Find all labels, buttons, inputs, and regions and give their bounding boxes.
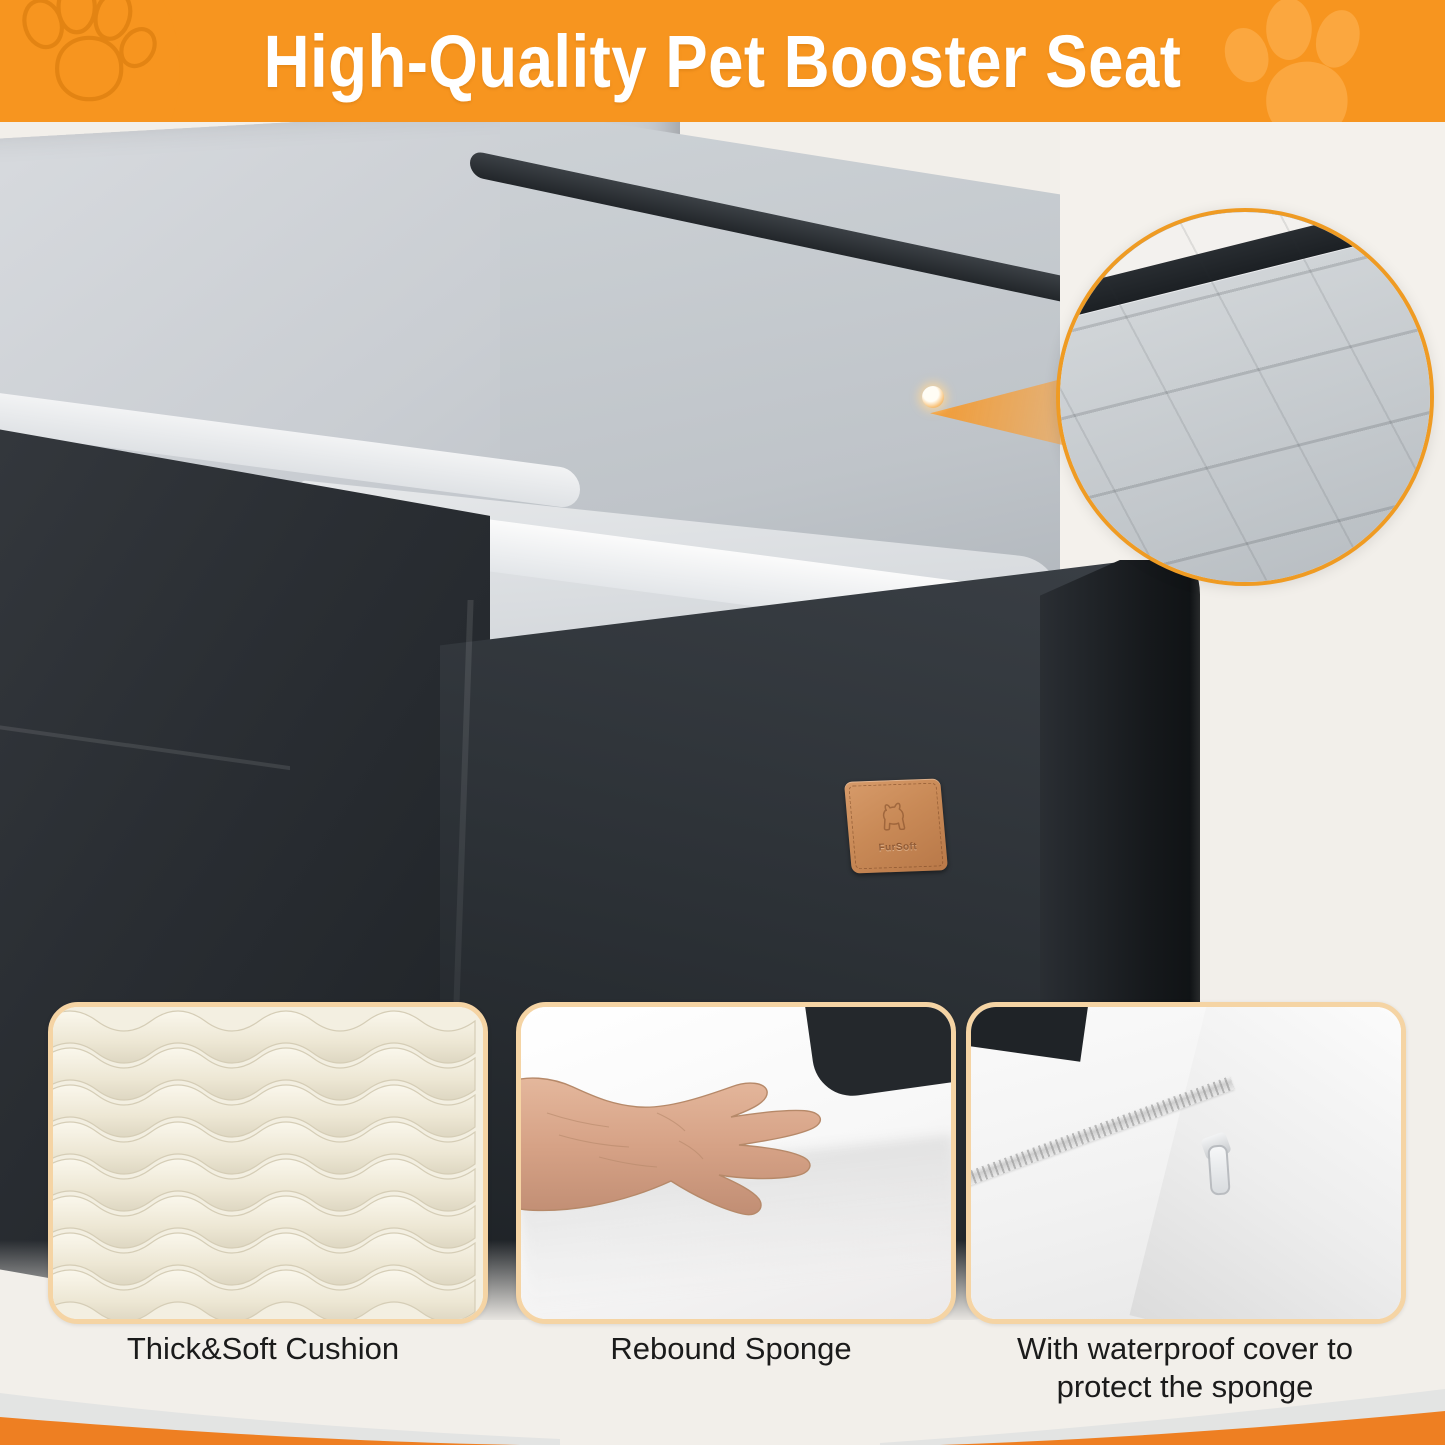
magnifier-origin-dot (922, 386, 944, 408)
header-banner: High-Quality Pet Booster Seat (0, 0, 1445, 122)
caption-waterproof-line-2: protect the sponge (950, 1368, 1420, 1406)
caption-waterproof-cover: With waterproof cover to protect the spo… (950, 1330, 1420, 1406)
feature-thumbnail-waterproof-cover (966, 1002, 1406, 1324)
caption-waterproof-line-1: With waterproof cover to (950, 1330, 1420, 1368)
feature-thumbnail-sponge (516, 1002, 956, 1324)
feature-thumbnail-row (0, 1002, 1445, 1324)
egg-crate-waves (53, 1007, 483, 1319)
foam-texture-image (53, 1007, 483, 1319)
caption-thick-soft-cushion: Thick&Soft Cushion (48, 1330, 478, 1368)
page-title: High-Quality Pet Booster Seat (101, 14, 1344, 110)
product-infographic: FurSoft (0, 0, 1445, 1445)
feature-caption-row: Thick&Soft Cushion Rebound Sponge With w… (0, 1330, 1445, 1445)
zoom-detail-circle (1056, 208, 1434, 586)
zoom-stitch-lines-b (1060, 212, 1430, 582)
brand-wordmark: FurSoft (878, 841, 917, 853)
zipper-pull-tab (1207, 1144, 1230, 1195)
caption-rebound-sponge: Rebound Sponge (516, 1330, 946, 1368)
feature-thumbnail-cushion (48, 1002, 488, 1324)
dog-silhouette-icon (874, 799, 918, 840)
brand-patch: FurSoft (844, 778, 948, 873)
hand-pressing-icon (516, 1061, 907, 1251)
